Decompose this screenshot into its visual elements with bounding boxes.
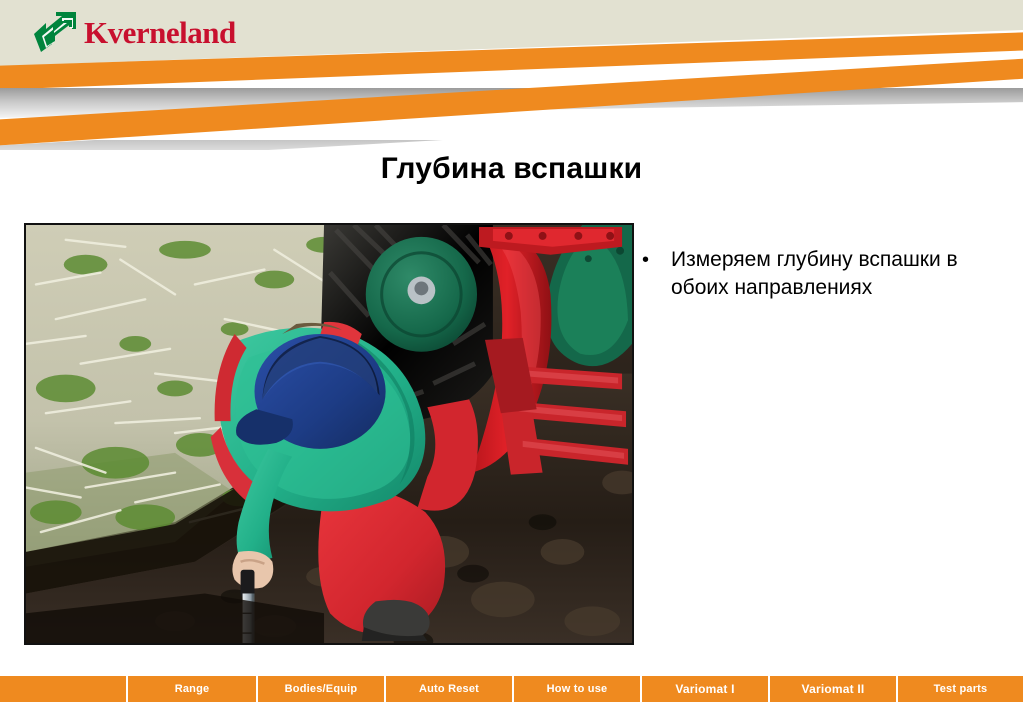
photo-illustration xyxy=(26,225,632,643)
nav-item-how-to-use[interactable]: How to use xyxy=(514,676,642,702)
bottom-nav: RangeBodies/EquipAuto ResetHow to useVar… xyxy=(0,676,1023,702)
brand-name: Kverneland xyxy=(84,17,236,48)
nav-spacer xyxy=(0,676,128,702)
nav-item-variomat-ii[interactable]: Variomat II xyxy=(770,676,898,702)
page-title: Глубина вспашки xyxy=(0,152,1023,186)
brand-logo[interactable]: Kverneland xyxy=(32,11,236,53)
bullet-text: Измеряем глубину вспашки в обоих направл… xyxy=(671,246,992,302)
nav-item-auto-reset[interactable]: Auto Reset xyxy=(386,676,514,702)
nav-item-range[interactable]: Range xyxy=(128,676,258,702)
green-arrow-icon xyxy=(32,12,78,52)
bullet-item: • Измеряем глубину вспашки в обоих напра… xyxy=(637,246,992,302)
bullet-marker: • xyxy=(637,246,671,274)
nav-item-bodies-equip[interactable]: Bodies/Equip xyxy=(258,676,386,702)
nav-item-test-parts[interactable]: Test parts xyxy=(898,676,1023,702)
header-shadow-band-lower xyxy=(0,140,1023,150)
nav-item-variomat-i[interactable]: Variomat I xyxy=(642,676,770,702)
slide-photo xyxy=(24,223,634,645)
